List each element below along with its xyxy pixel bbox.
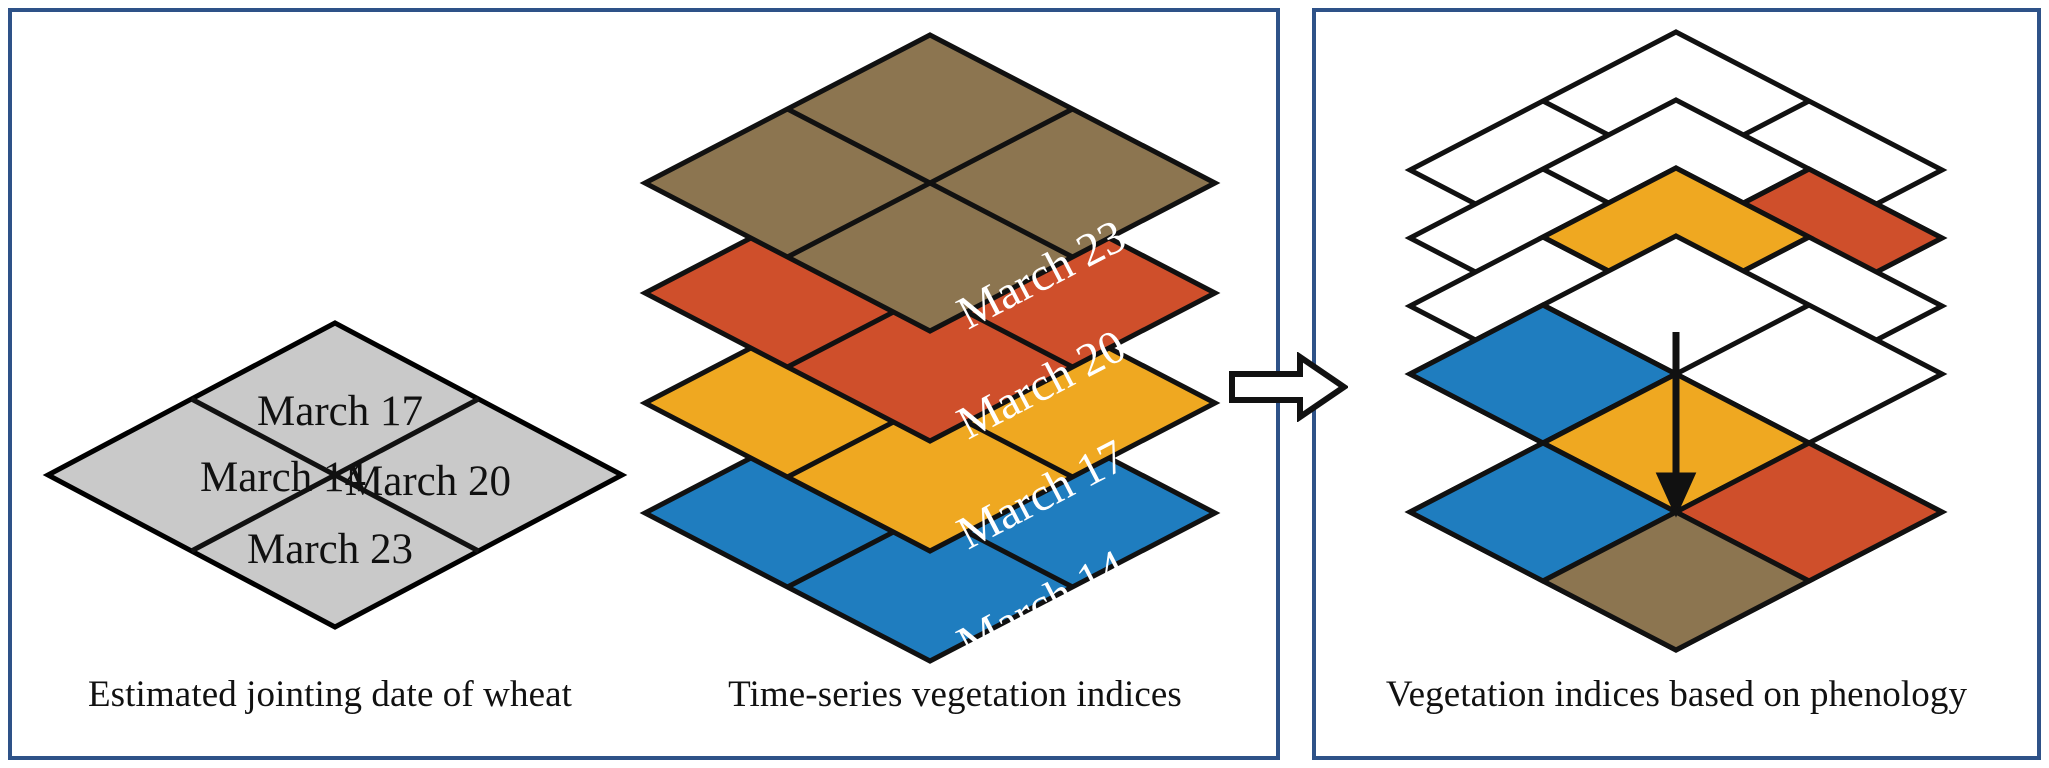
figure-root: March 17 March 14 March 20 March 23 <box>0 0 2049 768</box>
caption-time-series-vegetation-indices: Time-series vegetation indices <box>660 676 1250 715</box>
jointing-cell-label-right: March 20 <box>345 458 511 505</box>
caption-estimated-jointing-date: Estimated jointing date of wheat <box>30 676 630 715</box>
jointing-cell-label-left: March 14 <box>200 454 366 501</box>
jointing-cell-label-top: March 17 <box>257 388 423 435</box>
vi-layer-stack: March 23 March 20 March 17 March 14 <box>630 20 1250 660</box>
block-arrow-right-icon <box>1228 352 1348 422</box>
caption-vegetation-indices-phenology: Vegetation indices based on phenology <box>1322 676 2031 715</box>
phenology-composite <box>1342 22 2010 662</box>
jointing-date-grid: March 17 March 14 March 20 March 23 <box>40 315 630 635</box>
jointing-cell-label-bottom: March 23 <box>247 526 413 573</box>
